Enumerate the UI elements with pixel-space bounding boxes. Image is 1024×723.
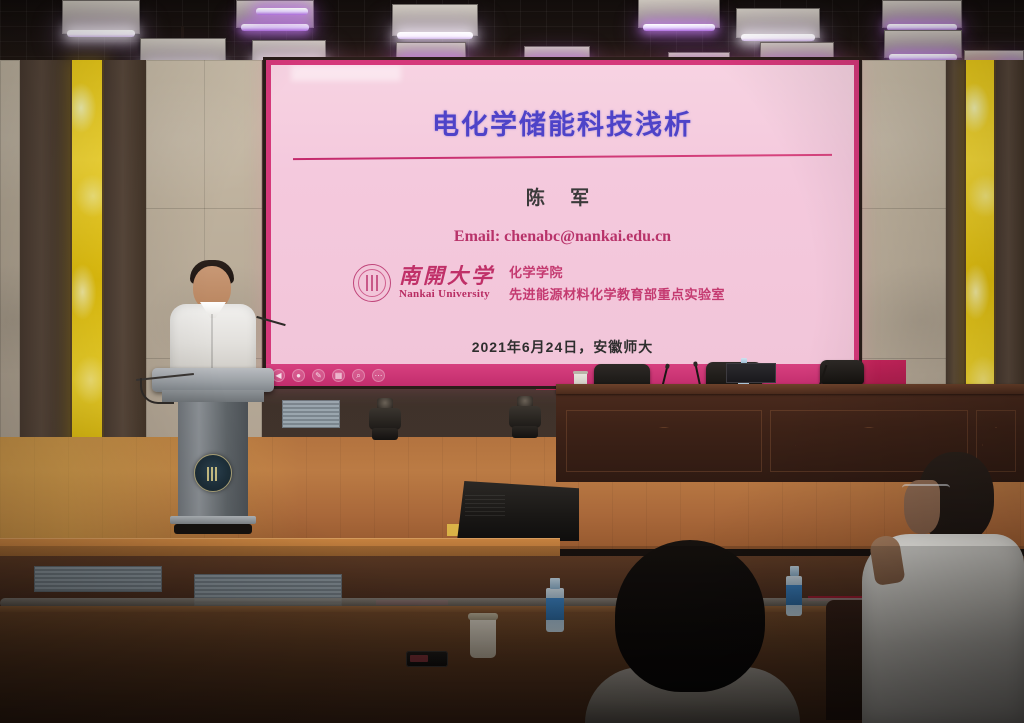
title-underline-rule <box>293 154 832 160</box>
moving-head-light <box>368 396 402 440</box>
fluorescent-tube <box>256 8 309 15</box>
table-top-surface <box>556 384 1024 394</box>
nankai-university-seal-icon <box>353 264 391 302</box>
ceiling-light-fixture <box>882 0 962 28</box>
table-front-panel <box>566 410 762 472</box>
grid-icon: ▦ <box>333 370 344 381</box>
smartphone[interactable] <box>406 651 448 667</box>
slide-email: Email: chenabc@nankai.edu.cn <box>271 228 854 246</box>
university-name-cn: 南開大学 <box>399 266 495 287</box>
audience-member-right <box>862 452 1024 723</box>
water-bottle <box>546 578 564 632</box>
hvac-vent <box>282 400 340 428</box>
panel-seam <box>862 208 946 209</box>
stage-monitor-speaker <box>457 481 579 541</box>
slide-date-location: 2021年6月24日，安徽师大 <box>271 337 854 357</box>
slide-title: 电化学储能科技浅析 <box>271 103 854 142</box>
light-yoke <box>509 406 541 428</box>
podium-neck <box>162 390 264 402</box>
hvac-vent <box>34 566 162 592</box>
bottle-cap <box>550 578 560 589</box>
presentation-slide[interactable]: 电化学储能科技浅析 陈 军 Email: chenabc@nankai.edu.… <box>271 65 854 370</box>
lecture-hall-photo: 元 公 元 新 月 电化学储能科技浅析 陈 军 Email: chenabc@n… <box>0 0 1024 723</box>
projection-screen[interactable]: 电化学储能科技浅析 陈 军 Email: chenabc@nankai.edu.… <box>266 60 859 386</box>
wall-panel-dark <box>18 60 70 460</box>
audience-member-center <box>585 540 800 723</box>
ellipsis-icon: ⋯ <box>373 370 384 381</box>
nankai-wordmark: 南開大学 Nankai University <box>399 266 495 300</box>
shirt-placket <box>211 314 213 372</box>
zoom-slide-button[interactable]: ⌕ <box>352 369 365 382</box>
moving-head-light <box>508 394 542 438</box>
university-crest-icon <box>194 454 232 492</box>
podium-base <box>170 516 256 524</box>
university-name-en: Nankai University <box>399 289 495 300</box>
pen-icon: ✎ <box>313 370 324 381</box>
stage-edge-lip <box>0 538 560 558</box>
pointer-options-icon: ● <box>293 370 304 381</box>
fixture-body <box>62 0 140 34</box>
affiliation-block: 南開大学 Nankai University 化学学院 先进能源材料化学教育部重… <box>353 262 725 303</box>
pointer-options-button[interactable]: ● <box>292 369 305 382</box>
light-yoke <box>369 408 401 430</box>
affiliation-lines: 化学学院 先进能源材料化学教育部重点实验室 <box>509 262 725 303</box>
wall-panel-dark <box>104 60 146 460</box>
fluorescent-tube <box>643 24 715 31</box>
affiliation-line-1: 化学学院 <box>509 262 725 281</box>
slide-speaker-name: 陈 军 <box>271 183 854 210</box>
bottle-label <box>546 598 564 620</box>
wall-panel-gold-backlit <box>70 60 104 460</box>
eyeglasses <box>902 484 950 493</box>
ceiling-light-fixture <box>638 0 720 28</box>
ceiling-light-fixture <box>252 0 312 12</box>
pen-tool-button[interactable]: ✎ <box>312 369 325 382</box>
light-base <box>372 428 398 440</box>
wall-panel-stone <box>0 60 20 460</box>
fluorescent-tube <box>397 32 473 39</box>
ceiling-light-fixture <box>884 30 962 58</box>
podium-with-speaker <box>148 258 278 534</box>
affiliation-line-2: 先进能源材料化学教育部重点实验室 <box>509 284 725 303</box>
panel-seam <box>862 358 946 359</box>
fluorescent-tube <box>67 30 136 37</box>
cup-lid <box>468 613 498 620</box>
podium-wheel-bar <box>174 524 252 534</box>
projector-glare <box>291 65 401 81</box>
ceiling-light-fixture <box>62 0 140 34</box>
more-options-button[interactable]: ⋯ <box>372 369 385 382</box>
laptop-screen <box>726 363 776 383</box>
light-base <box>512 426 538 438</box>
ceiling-light-fixture <box>736 8 820 38</box>
fluorescent-tube <box>241 24 310 31</box>
coffee-cup <box>470 618 496 658</box>
speaker-grille <box>465 495 505 519</box>
all-slides-button[interactable]: ▦ <box>332 369 345 382</box>
person-head-back <box>615 540 765 692</box>
ceiling-light-fixture <box>392 4 478 36</box>
magnifier-icon: ⌕ <box>353 370 364 381</box>
projection-screen-frame: 电化学储能科技浅析 陈 军 Email: chenabc@nankai.edu.… <box>263 57 862 389</box>
fluorescent-tube <box>741 34 815 41</box>
